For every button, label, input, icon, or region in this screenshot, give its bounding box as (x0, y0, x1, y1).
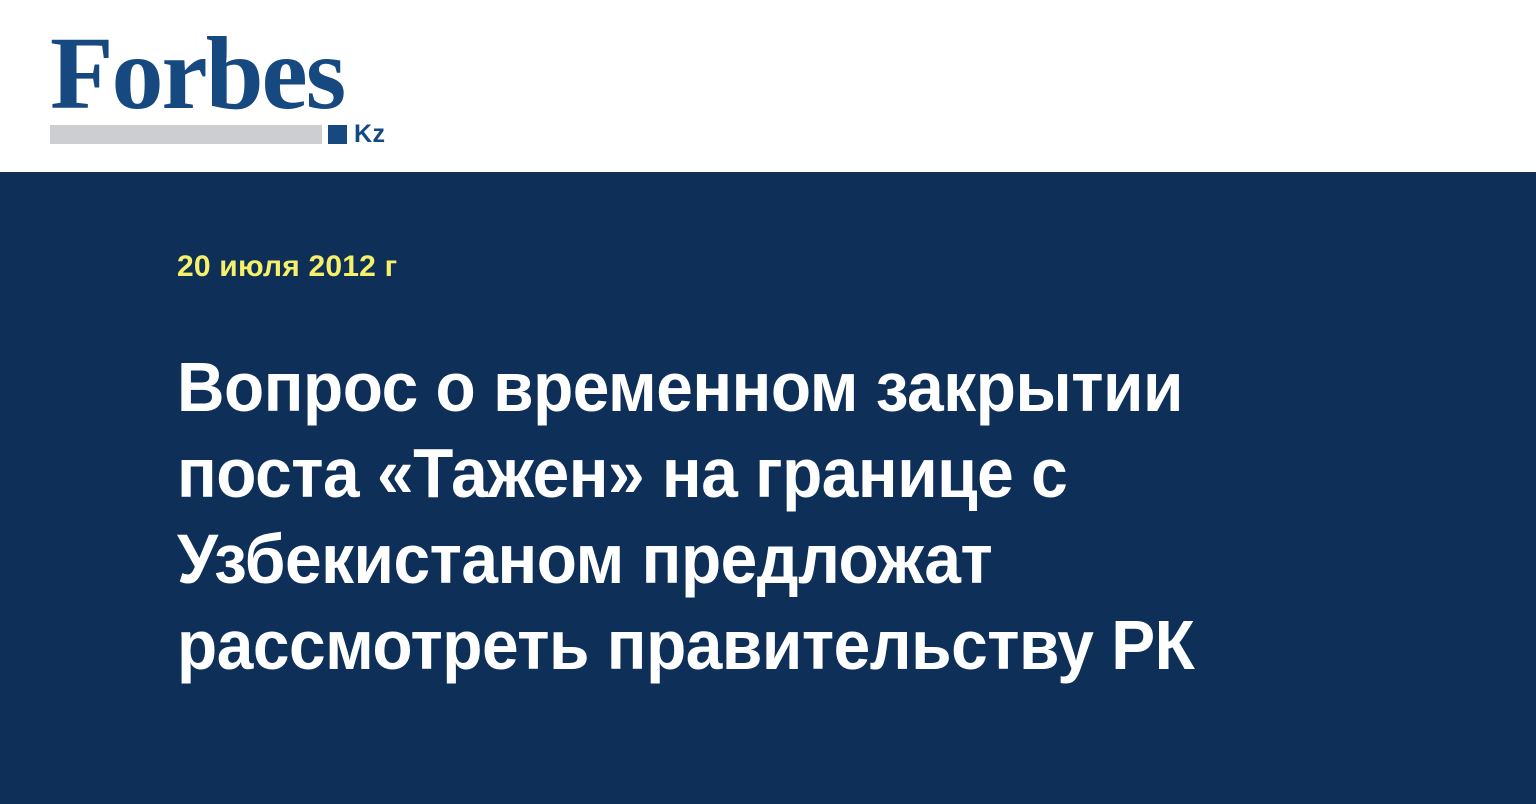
forbes-kz-logo[interactable]: Forbes Kz (50, 22, 402, 146)
article-date: 20 июля 2012 г (177, 250, 397, 284)
article-hero: 20 июля 2012 г Вопрос о временном закрыт… (0, 172, 1536, 804)
logo-locale-label: Kz (354, 122, 386, 147)
article-page: Forbes Kz 20 июля 2012 г Вопрос о времен… (0, 0, 1536, 804)
logo-kz-group: Kz (328, 123, 386, 145)
square-icon (328, 125, 347, 144)
page-title: Вопрос о временном закрытии поста «Тажен… (177, 344, 1202, 688)
logo-rule (50, 125, 322, 144)
site-header: Forbes Kz (0, 0, 1536, 172)
forbes-wordmark: Forbes (50, 22, 344, 126)
